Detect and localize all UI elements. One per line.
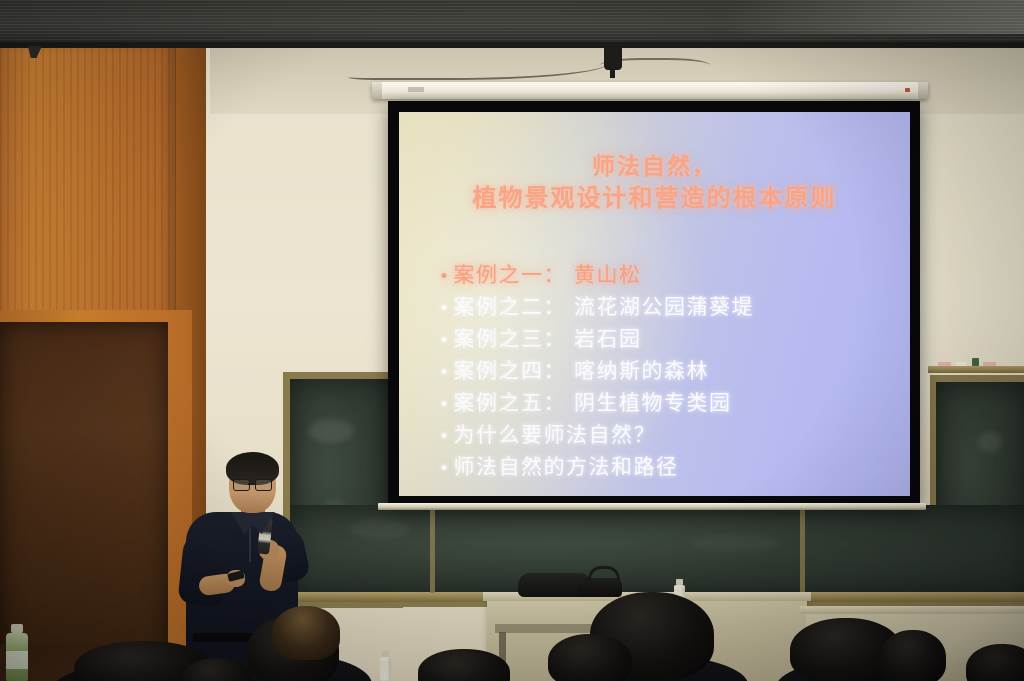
glasses-icon xyxy=(233,479,272,489)
bottle-cap xyxy=(382,651,389,657)
lecture-hall-scene: 师法自然， 植物景观设计和营造的根本原则 • 案例之一： 黄山松 • 案例之二： xyxy=(0,0,1024,681)
bag-handle xyxy=(588,566,620,581)
slide-bullet-item: • 案例之五： 阴生植物专类园 xyxy=(439,388,900,418)
glasses-lens-left xyxy=(233,479,250,491)
chalk-smudge xyxy=(350,519,410,539)
audience-head xyxy=(548,634,632,681)
bullet-text: 案例之四： xyxy=(454,356,567,386)
bullet-dot-icon: • xyxy=(439,301,451,318)
water-bottle-green xyxy=(6,633,28,681)
water-bottle-foreground xyxy=(380,657,391,681)
projection-screen-surface[interactable]: 师法自然， 植物景观设计和营造的根本原则 • 案例之一： 黄山松 • 案例之二： xyxy=(399,112,910,496)
bottle-cap xyxy=(11,624,23,633)
bullet-extra: 阴生植物专类园 xyxy=(574,388,732,418)
slide-bullet-item: • 案例之一： 黄山松 xyxy=(439,260,900,290)
projection-screen-housing[interactable] xyxy=(372,82,928,99)
chalk-piece xyxy=(938,362,951,366)
bullet-text: 案例之二： xyxy=(454,292,567,322)
projection-screen-frame: 师法自然， 植物景观设计和营造的根本原则 • 案例之一： 黄山松 • 案例之二： xyxy=(388,101,920,505)
bullet-dot-icon: • xyxy=(439,333,451,350)
bullet-dot-icon: • xyxy=(439,365,451,382)
chalk-tray-right-upper xyxy=(928,366,1024,373)
chalk-smudge xyxy=(978,432,1002,452)
bottle-label xyxy=(6,651,28,669)
ceiling-acoustic-panel xyxy=(0,0,1024,46)
chalk-smudge xyxy=(308,419,354,443)
slide-title-line-2: 植物景观设计和营造的根本原则 xyxy=(399,183,910,214)
presenter-left-arm xyxy=(177,531,228,607)
housing-indicator xyxy=(905,88,910,92)
presentation-slide: 师法自然， 植物景观设计和营造的根本原则 • 案例之一： 黄山松 • 案例之二： xyxy=(399,112,910,496)
bullet-extra: 岩石园 xyxy=(574,324,642,354)
housing-cap-left xyxy=(372,82,382,99)
bullet-extra: 黄山松 xyxy=(574,260,642,290)
bullet-text: 为什么要师法自然？ xyxy=(454,420,657,450)
bullet-dot-icon: • xyxy=(439,397,451,414)
housing-cap-right xyxy=(918,82,928,99)
bullet-dot-icon: • xyxy=(439,269,451,286)
chalkboard-divider-right xyxy=(800,505,805,593)
ceiling-panel-edge xyxy=(0,42,1024,48)
bottle-cap xyxy=(676,579,683,585)
bullet-extra: 流花湖公园蒲葵堤 xyxy=(574,292,754,322)
ceiling-projector-mount-icon xyxy=(604,44,622,70)
bullet-dot-icon: • xyxy=(439,461,451,478)
bullet-text: 案例之一： xyxy=(454,260,567,290)
side-desk-top xyxy=(800,606,1024,614)
slide-title: 师法自然， 植物景观设计和营造的根本原则 xyxy=(399,152,910,214)
bullet-extra: 喀纳斯的森林 xyxy=(574,356,709,386)
presenter-shirt-placket xyxy=(249,528,251,562)
audience-head xyxy=(880,630,946,681)
chalk-piece xyxy=(983,362,996,366)
slide-bullet-item: • 案例之四： 喀纳斯的森林 xyxy=(439,356,900,386)
slide-bullet-item: • 为什么要师法自然？ xyxy=(439,420,900,450)
audience-head-brown xyxy=(272,606,340,660)
projection-screen-weight-bar[interactable] xyxy=(378,503,926,510)
classroom-door[interactable] xyxy=(0,322,168,681)
bullet-text: 案例之五： xyxy=(454,388,567,418)
slide-bullet-list: • 案例之一： 黄山松 • 案例之二： 流花湖公园蒲葵堤 • 案例之三： xyxy=(439,260,900,484)
slide-title-line-1: 师法自然， xyxy=(399,152,910,183)
slide-bullet-item: • 师法自然的方法和路径 xyxy=(439,452,900,482)
chalk-piece xyxy=(956,362,967,366)
chalk-piece xyxy=(972,358,979,366)
chalkboard-divider-left xyxy=(430,505,435,593)
bullet-dot-icon: • xyxy=(439,429,451,446)
glasses-lens-right xyxy=(255,479,272,491)
slide-bullet-item: • 案例之二： 流花湖公园蒲葵堤 xyxy=(439,292,900,322)
bullet-text: 师法自然的方法和路径 xyxy=(454,452,679,482)
slide-bullet-item: • 案例之三： 岩石园 xyxy=(439,324,900,354)
bullet-text: 案例之三： xyxy=(454,324,567,354)
housing-label xyxy=(408,87,424,92)
ceiling-panel-highlight xyxy=(724,0,1024,34)
chalk-smudge xyxy=(690,535,780,551)
